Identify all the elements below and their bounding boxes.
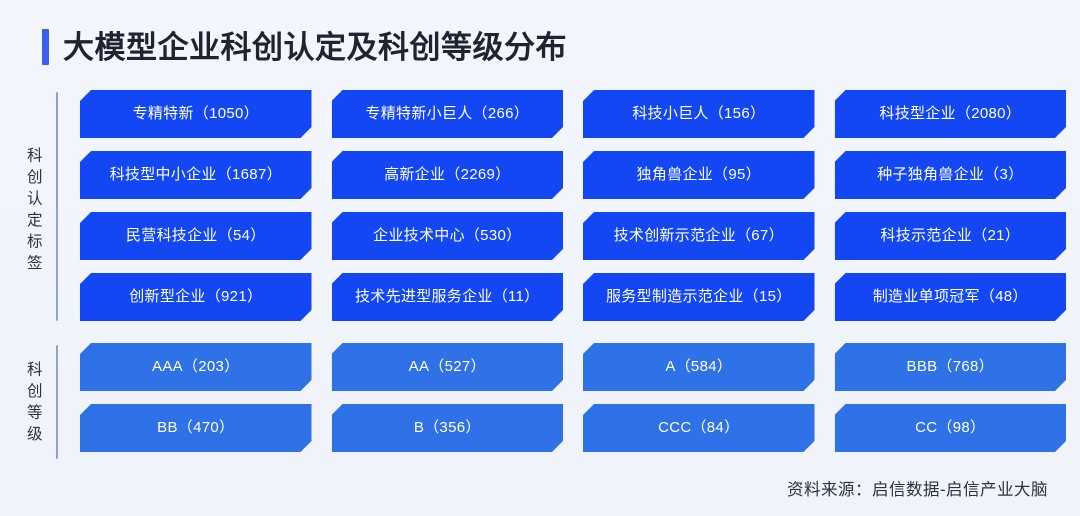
chip-label-line: CC（98）	[915, 419, 985, 437]
chip-label-line: 企业技术中心（530）	[373, 227, 521, 245]
chip-grade-6[interactable]: CCC（84）	[583, 404, 815, 452]
chip-certify-0[interactable]: 专精特新（1050）	[80, 90, 312, 138]
chip-certify-5[interactable]: 高新企业（2269）	[332, 151, 564, 199]
chip-label-line: 专精特新（1050）	[133, 105, 259, 123]
section-innovation-grades: 科创等级 AAA（203）AA（527）A（584）BBB（768）BB（470…	[18, 343, 1066, 465]
chip-label-line: 民营科技企业（54）	[126, 227, 266, 245]
section-label-certification: 科创认定标签	[18, 90, 48, 333]
section-divider-certification	[56, 92, 58, 321]
chip-label-line: BBB（768）	[907, 358, 994, 376]
chip-label-line: CCC（84）	[658, 419, 739, 437]
chip-label-line: 种子独角兽企业（3）	[877, 166, 1023, 184]
chip-grade-0[interactable]: AAA（203）	[80, 343, 312, 391]
chip-label-line: 服务型制造示范企业	[606, 288, 744, 306]
chip-label-line: A（584）	[665, 358, 732, 376]
chip-certify-1[interactable]: 专精特新小巨人（266）	[332, 90, 564, 138]
chip-label-line: 科技示范企业（21）	[880, 227, 1020, 245]
chip-label-line: 技术先进型服务企业	[355, 288, 493, 306]
chip-label-line: 创新型企业（921）	[129, 288, 262, 306]
chip-certify-14[interactable]: 服务型制造示范企业（15）	[583, 273, 815, 321]
chip-label-line: 独角兽企业（95）	[637, 166, 761, 184]
chip-certify-4[interactable]: 科技型中小企业（1687）	[80, 151, 312, 199]
chip-label-line: （11）	[493, 288, 540, 306]
page-title: 大模型企业科创认定及科创等级分布	[42, 25, 567, 69]
section-certification-labels: 科创认定标签 专精特新（1050）专精特新小巨人（266）科技小巨人（156）科…	[18, 90, 1066, 333]
chip-certify-9[interactable]: 企业技术中心（530）	[332, 212, 564, 260]
chip-certify-2[interactable]: 科技小巨人（156）	[583, 90, 815, 138]
chip-grade-7[interactable]: CC（98）	[835, 404, 1067, 452]
chip-label-line: 专精特新小巨人（266）	[365, 105, 529, 123]
chip-label-line: （1687）	[217, 166, 282, 184]
chip-label-line: （15）	[744, 288, 792, 306]
chip-certify-15[interactable]: 制造业单项冠军（48）	[835, 273, 1067, 321]
page-title-text: 大模型企业科创认定及科创等级分布	[63, 32, 567, 63]
chip-certify-10[interactable]: 技术创新示范企业（67）	[583, 212, 815, 260]
section-label-grade: 科创等级	[18, 343, 48, 465]
chip-label-line: 技术创新示范企业（67）	[614, 227, 784, 245]
chip-grade-3[interactable]: BBB（768）	[835, 343, 1067, 391]
chip-certify-11[interactable]: 科技示范企业（21）	[835, 212, 1067, 260]
source-note: 资料来源：启信数据-启信产业大脑	[787, 476, 1048, 500]
chip-certify-13[interactable]: 技术先进型服务企业（11）	[332, 273, 564, 321]
chip-grade-5[interactable]: B（356）	[332, 404, 564, 452]
chip-grid-grade: AAA（203）AA（527）A（584）BBB（768）BB（470）B（35…	[80, 343, 1066, 465]
chip-label-line: B（356）	[414, 419, 481, 437]
chip-label-line: BB（470）	[157, 419, 234, 437]
chip-label-line: 科技型中小企业	[110, 166, 217, 184]
chip-grade-2[interactable]: A（584）	[583, 343, 815, 391]
chip-certify-7[interactable]: 种子独角兽企业（3）	[835, 151, 1067, 199]
section-divider-grade	[56, 345, 58, 459]
chip-certify-6[interactable]: 独角兽企业（95）	[583, 151, 815, 199]
title-accent-bar	[42, 29, 49, 65]
chip-label-line: AA（527）	[409, 358, 486, 376]
chip-certify-12[interactable]: 创新型企业（921）	[80, 273, 312, 321]
chip-label-line: 高新企业（2269）	[384, 166, 510, 184]
chip-grid-certification: 专精特新（1050）专精特新小巨人（266）科技小巨人（156）科技型企业（20…	[80, 90, 1066, 333]
chip-label-line: AAA（203）	[152, 358, 239, 376]
chip-label-line: 科技小巨人（156）	[632, 105, 765, 123]
chip-certify-3[interactable]: 科技型企业（2080）	[835, 90, 1067, 138]
chip-label-line: 科技型企业（2080）	[879, 105, 1021, 123]
chip-grade-4[interactable]: BB（470）	[80, 404, 312, 452]
chip-grade-1[interactable]: AA（527）	[332, 343, 564, 391]
chip-label-line: 制造业单项冠军（48）	[873, 288, 1028, 306]
infographic-page: 大模型企业科创认定及科创等级分布 科创认定标签 专精特新（1050）专精特新小巨…	[0, 0, 1080, 516]
chip-certify-8[interactable]: 民营科技企业（54）	[80, 212, 312, 260]
